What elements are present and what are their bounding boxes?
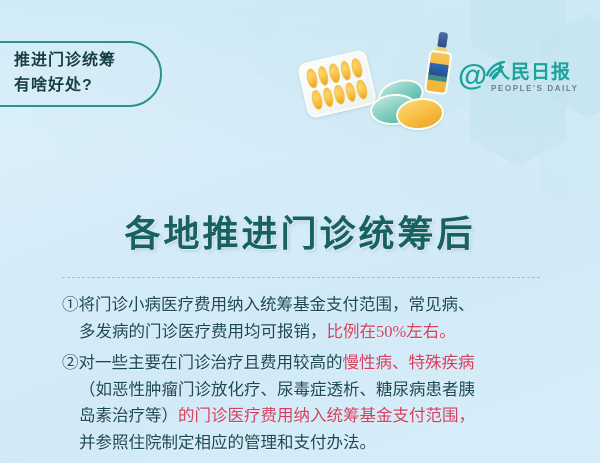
policy-item-line: （如恶性肿瘤门诊放化疗、尿毒症透析、糖尿病患者胰 (62, 377, 554, 404)
page-title: 各地推进门诊统筹后 (0, 205, 600, 257)
tablet-icon (328, 62, 342, 84)
tablet-icon (305, 68, 319, 90)
body-text: （如恶性肿瘤门诊放化疗、尿毒症透析、糖尿病患者胰 (79, 380, 475, 399)
policy-item-line: ②对一些主要在门诊治疗且费用较高的慢性病、特殊疾病 (62, 350, 554, 377)
tablet-icon (355, 79, 369, 101)
policy-item-list: ①将门诊小病医疗费用纳入统筹基金支付范围，常见病、多发病的门诊医疗费用均可报销，… (62, 292, 554, 461)
tablet-icon (333, 84, 347, 106)
logo-english-name: PEOPLE'S DAILY (491, 84, 579, 93)
at-symbol-icon: @ (458, 62, 488, 92)
body-text: 并参照住院制定相应的管理和支付办法。 (79, 433, 376, 452)
policy-item-line: 并参照住院制定相应的管理和支付办法。 (62, 430, 554, 457)
policy-item-line: 多发病的门诊医疗费用均可报销，比例在50%左右。 (62, 319, 554, 346)
dashed-divider (62, 277, 540, 278)
infographic-poster: 推进门诊统筹 有啥好处? (0, 0, 600, 463)
body-text: ①将门诊小病医疗费用纳入统筹基金支付范围，常见病、 (62, 295, 475, 314)
logo-chinese-name: 人民日报 (491, 62, 571, 83)
tablet-icon (350, 57, 364, 79)
tablet-icon (310, 89, 324, 111)
question-line-1: 推进门诊统筹 (14, 48, 184, 73)
question-line-2: 有啥好处? (14, 73, 184, 98)
policy-item: ①将门诊小病医疗费用纳入统筹基金支付范围，常见病、多发病的门诊医疗费用均可报销，… (62, 292, 554, 345)
body-text: ②对一些主要在门诊治疗且费用较高的 (62, 353, 343, 372)
policy-item-line: ①将门诊小病医疗费用纳入统筹基金支付范围，常见病、 (62, 292, 554, 319)
highlighted-text: 慢性病、特殊疾病 (343, 353, 475, 372)
peoples-daily-logo: @ 人民日报 PEOPLE'S DAILY (458, 58, 580, 102)
body-text: 多发病的门诊医疗费用均可报销， (79, 322, 327, 341)
body-text: 岛素治疗等） (79, 406, 178, 425)
highlighted-text: 比例在50%左右。 (327, 322, 456, 341)
highlighted-text: 的门诊医疗费用纳入统筹基金支付范围， (178, 406, 475, 425)
policy-item-line: 岛素治疗等）的门诊医疗费用纳入统筹基金支付范围， (62, 403, 554, 430)
policy-item: ②对一些主要在门诊治疗且费用较高的慢性病、特殊疾病（如恶性肿瘤门诊放化疗、尿毒症… (62, 350, 554, 456)
question-bubble-text: 推进门诊统筹 有啥好处? (14, 48, 184, 98)
